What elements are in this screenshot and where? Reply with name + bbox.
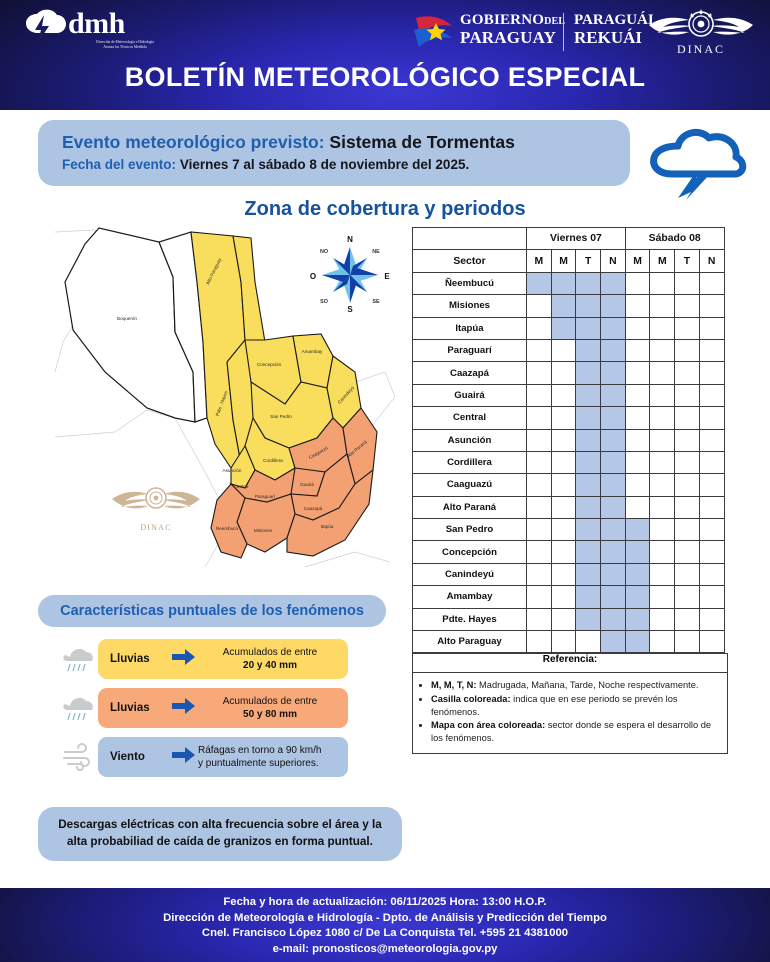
phenomenon-name: Viento [98,751,172,763]
forecast-cell-empty [625,272,650,294]
event-type-row: Evento meteorológico previsto: Sistema d… [62,129,630,155]
sector-name: Itapúa [413,317,527,339]
table-row: Paraguarí [413,339,725,361]
forecast-cell-active [576,429,601,451]
gobierno-line2: PARAGUAY [460,28,565,48]
forecast-cell-empty [551,429,576,451]
forecast-cell-empty [675,429,700,451]
forecast-cell-active [576,474,601,496]
logo-divider [563,13,564,51]
page-footer: Fecha y hora de actualización: 06/11/202… [0,888,770,962]
forecast-cell-empty [527,496,552,518]
forecast-cell-empty [625,295,650,317]
forecast-cell-empty [650,474,675,496]
period-header-6: T [675,250,700,272]
phenomenon-value-line1: Ráfagas en torno a 90 km/h [198,745,321,756]
footer-update: Fecha y hora de actualización: 06/11/202… [0,895,770,911]
forecast-cell-active [625,563,650,585]
forecast-cell-empty [650,496,675,518]
reference-item: Mapa con área coloreada: sector donde se… [431,719,719,744]
forecast-cell-empty [699,631,724,653]
forecast-cell-empty [699,295,724,317]
sector-name: Canindeyú [413,563,527,585]
page-header: dmh Dirección de Meteorología e Hidrolog… [0,0,770,110]
forecast-cell-active [576,362,601,384]
paraguay-flag-swoosh-icon [410,14,458,52]
table-row: Guairá [413,384,725,406]
forecast-cell-active [576,496,601,518]
dmh-logo: dmh Dirección de Meteorología e Hidrolog… [24,6,174,58]
forecast-cell-empty [699,317,724,339]
sector-name: Pdte. Hayes [413,608,527,630]
forecast-cell-active [625,631,650,653]
forecast-cell-active [601,407,626,429]
table-row: Ñeembucú [413,272,725,294]
coverage-map: Boquerón Alto Paraguay Pdte . Hayes Conc… [0,227,412,587]
forecast-cell-empty [699,362,724,384]
gobierno-text: GOBIERNODEL PARAGUAY [460,12,565,48]
forecast-cell-empty [551,541,576,563]
forecast-cell-empty [699,339,724,361]
forecast-cell-empty [527,407,552,429]
forecast-cell-active [601,339,626,361]
forecast-cell-empty [675,362,700,384]
compass-se: SE [372,299,380,305]
phenomenon-pill: Lluvias Acumulados de entre 50 y 80 mm [98,688,348,728]
table-row: Concepción [413,541,725,563]
gobierno-word: GOBIERNO [460,12,544,28]
sector-name: Caazapá [413,362,527,384]
forecast-cell-empty [625,496,650,518]
forecast-cell-empty [625,474,650,496]
table-row: San Pedro [413,519,725,541]
forecast-cell-empty [675,317,700,339]
table-row: Central [413,407,725,429]
table-row: Caaguazú [413,474,725,496]
main-content: Boquerón Alto Paraguay Pdte . Hayes Conc… [0,227,770,817]
gobierno-line1: GOBIERNODEL [460,12,565,29]
characteristics-section: Características puntuales de los fenómen… [0,595,412,786]
compass-s: S [347,305,353,314]
forecast-cell-empty [527,429,552,451]
compass-rose-icon: N S E O NO NE SO SE [305,229,395,317]
svg-text:Central: Central [234,484,249,489]
forecast-cell-empty [675,407,700,429]
forecast-cell-active [601,451,626,473]
compass-o: O [310,272,316,281]
forecast-cell-empty [675,586,700,608]
footer-email[interactable]: e-mail: pronosticos@meteorologia.gov.py [0,942,770,958]
phenomenon-value: Acumulados de entre 50 y 80 mm [198,695,348,721]
gobierno-paraguay-logo: GOBIERNODEL PARAGUAY PARAGUÁI REKUÁI [410,12,635,56]
forecast-cell-empty [650,384,675,406]
forecast-cell-empty [650,451,675,473]
forecast-cell-active [601,496,626,518]
footer-department: Dirección de Meteorología e Hidrología -… [0,911,770,927]
forecast-cell-active [601,295,626,317]
forecast-cell-active [601,362,626,384]
phenomenon-value: Acumulados de entre 20 y 40 mm [198,646,348,672]
forecast-cell-empty [527,339,552,361]
table-row: Amambay [413,586,725,608]
forecast-cell-empty [699,541,724,563]
period-header-7: N [699,250,724,272]
forecast-cell-empty [551,608,576,630]
sector-name: Amambay [413,586,527,608]
svg-text:Cordillera: Cordillera [263,458,283,463]
svg-text:Amambay: Amambay [302,349,323,354]
forecast-cell-empty [551,339,576,361]
forecast-cell-empty [527,474,552,496]
forecast-cell-active [576,407,601,429]
forecast-cell-empty [527,541,552,563]
event-type-value: Sistema de Tormentas [329,132,514,152]
svg-text:Boquerón: Boquerón [117,316,137,321]
forecast-cell-empty [650,407,675,429]
forecast-cell-empty [699,451,724,473]
phenomenon-pill: Lluvias Acumulados de entre 20 y 40 mm [98,639,348,679]
forecast-cell-empty [625,317,650,339]
svg-text:Misiones: Misiones [254,528,273,533]
sector-name: Alto Paraná [413,496,527,518]
reference-body: M, M, T, N: Madrugada, Mañana, Tarde, No… [412,673,728,754]
forecast-cell-empty [551,563,576,585]
forecast-cell-active [576,586,601,608]
forecast-cell-empty [625,362,650,384]
svg-text:Concepción: Concepción [257,362,282,367]
table-row: Itapúa [413,317,725,339]
forecast-table-wrapper: Viernes 07 Sábado 08 Sector M M T N M M … [412,227,728,754]
dinac-logo: DINAC [645,6,757,58]
phenomenon-row: Viento Ráfagas en torno a 90 km/h y punt… [0,737,412,777]
arrow-right-icon [172,649,198,670]
forecast-cell-empty [551,474,576,496]
sector-name: Guairá [413,384,527,406]
forecast-cell-empty [625,429,650,451]
compass-e: E [384,272,390,281]
compass-n: N [347,235,353,244]
forecast-cell-empty [650,631,675,653]
forecast-cell-empty [699,384,724,406]
forecast-cell-active [601,384,626,406]
dinac-wings-emblem-icon [645,6,757,46]
forecast-cell-empty [551,451,576,473]
phenomenon-value-line2: 50 y 80 mm [198,708,342,721]
day-header-saturday: Sábado 08 [625,228,724,250]
period-header-1: M [551,250,576,272]
header-spacer [413,228,527,250]
phenomena-list: Lluvias Acumulados de entre 20 y 40 mm [0,639,412,777]
forecast-cell-empty [527,519,552,541]
forecast-cell-active [601,608,626,630]
sector-name: Alto Paraguay [413,631,527,653]
forecast-cell-empty [675,295,700,317]
forecast-cell-active [576,317,601,339]
table-row: Canindeyú [413,563,725,585]
forecast-cell-active [527,272,552,294]
page-title: BOLETÍN METEOROLÓGICO ESPECIAL [0,62,770,93]
forecast-cell-empty [699,519,724,541]
forecast-cell-empty [625,339,650,361]
table-period-header-row: Sector M M T N M M T N [413,250,725,272]
forecast-cell-active [576,339,601,361]
phenomenon-value: Ráfagas en torno a 90 km/h y puntualment… [198,744,348,770]
svg-text:Asunción: Asunción [223,468,242,473]
forecast-cell-empty [699,272,724,294]
forecast-cell-empty [675,474,700,496]
forecast-cell-active [576,272,601,294]
forecast-cell-empty [675,496,700,518]
table-row: Cordillera [413,451,725,473]
forecast-cell-active [625,586,650,608]
forecast-cell-empty [527,451,552,473]
forecast-cell-empty [527,384,552,406]
forecast-cell-empty [675,608,700,630]
table-head: Viernes 07 Sábado 08 Sector M M T N M M … [413,228,725,273]
period-header-5: M [650,250,675,272]
forecast-cell-empty [527,608,552,630]
svg-text:Ñeembucú: Ñeembucú [216,525,239,531]
sector-name: San Pedro [413,519,527,541]
svg-text:San Pedro: San Pedro [270,414,292,419]
rain-cloud-icon [60,643,96,675]
guarani-line1: PARAGUÁI [574,12,654,29]
header-logo-bar: dmh Dirección de Meteorología e Hidrolog… [0,0,770,62]
sector-name: Cordillera [413,451,527,473]
sector-name: Misiones [413,295,527,317]
forecast-cell-empty [675,519,700,541]
compass-no: NO [320,249,328,255]
period-header-0: M [527,250,552,272]
forecast-cell-active [576,295,601,317]
forecast-cell-empty [699,429,724,451]
forecast-cell-active [601,563,626,585]
forecast-cell-empty [527,631,552,653]
guarani-text: PARAGUÁI REKUÁI [574,12,654,48]
forecast-cell-active [601,429,626,451]
forecast-cell-active [601,586,626,608]
forecast-cell-empty [650,586,675,608]
svg-text:Itapúa: Itapúa [321,524,334,529]
forecast-cell-empty [699,474,724,496]
rain-cloud-icon [60,692,96,724]
forecast-cell-empty [650,541,675,563]
phenomenon-value-line1: Acumulados de entre [198,646,342,659]
dinac-watermark-label: DINAC [110,523,202,532]
forecast-cell-empty [527,362,552,384]
arrow-right-icon [172,698,198,719]
dmh-subtitle-line2: Avanza los Técnicos Meddida [103,45,146,49]
forecast-cell-empty [527,295,552,317]
forecast-cell-active [576,519,601,541]
reference-list: M, M, T, N: Madrugada, Mañana, Tarde, No… [417,679,719,744]
forecast-cell-empty [527,563,552,585]
event-date-value: Viernes 7 al sábado 8 de noviembre del 2… [180,157,469,172]
forecast-cell-active [601,519,626,541]
guarani-line2: REKUÁI [574,28,654,48]
forecast-cell-empty [551,362,576,384]
dmh-subtitle: Dirección de Meteorología e Hidrología A… [70,40,180,50]
section-title: Zona de cobertura y periodos [0,198,770,221]
wind-icon [60,741,96,773]
forecast-cell-empty [699,608,724,630]
forecast-cell-empty [625,451,650,473]
forecast-cell-empty [650,339,675,361]
phenomenon-value-line1: Acumulados de entre [198,695,342,708]
forecast-cell-empty [699,496,724,518]
table-row: Asunción [413,429,725,451]
forecast-cell-empty [551,407,576,429]
forecast-cell-empty [675,563,700,585]
forecast-cell-empty [650,362,675,384]
period-header-2: T [576,250,601,272]
forecast-cell-active [576,563,601,585]
dinac-label: DINAC [645,42,757,57]
phenomenon-value-line2: 20 y 40 mm [198,659,342,672]
forecast-cell-empty [551,586,576,608]
forecast-cell-empty [675,451,700,473]
sector-name: Asunción [413,429,527,451]
forecast-cell-empty [625,384,650,406]
table-row: Pdte. Hayes [413,608,725,630]
table-body: ÑeembucúMisionesItapúaParaguaríCaazapáGu… [413,272,725,653]
footer-address: Cnel. Francisco López 1080 c/ De La Conq… [0,926,770,942]
forecast-cell-active [551,317,576,339]
table-row: Misiones [413,295,725,317]
event-date-label: Fecha del evento: [62,157,176,172]
forecast-cell-empty [527,586,552,608]
period-header-4: M [625,250,650,272]
forecast-cell-empty [675,272,700,294]
compass-so: SO [320,299,328,305]
reference-item: Casilla coloreada: indica que en ese per… [431,693,719,718]
forecast-cell-empty [650,295,675,317]
forecast-cell-empty [675,541,700,563]
forecast-cell-active [576,384,601,406]
phenomenon-value-line2: y puntualmente superiores. [198,758,319,769]
forecast-cell-empty [551,496,576,518]
forecast-cell-active [601,317,626,339]
forecast-cell-active [625,519,650,541]
forecast-cell-active [625,608,650,630]
forecast-cell-empty [675,384,700,406]
dmh-abbr: dmh [68,8,125,40]
forecast-table: Viernes 07 Sábado 08 Sector M M T N M M … [412,227,725,653]
event-type-label: Evento meteorológico previsto: [62,132,325,152]
forecast-cell-active [551,272,576,294]
sector-name: Central [413,407,527,429]
thunderstorm-cloud-icon [648,122,756,200]
compass-ne: NE [372,249,380,255]
forecast-cell-empty [625,407,650,429]
reference-title: Referencia: [412,653,728,673]
day-header-friday: Viernes 07 [527,228,626,250]
reference-item: M, M, T, N: Madrugada, Mañana, Tarde, No… [431,679,719,692]
forecast-cell-active [601,541,626,563]
forecast-cell-active [551,295,576,317]
sector-name: Paraguarí [413,339,527,361]
event-date-row: Fecha del evento: Viernes 7 al sábado 8 … [62,155,630,175]
forecast-cell-empty [650,272,675,294]
forecast-cell-empty [675,631,700,653]
phenomenon-name: Lluvias [98,653,172,665]
dmh-cloud-lightning-icon [24,8,70,48]
forecast-cell-empty [576,631,601,653]
forecast-cell-active [576,451,601,473]
period-header-3: N [601,250,626,272]
forecast-cell-active [601,272,626,294]
sector-name: Concepción [413,541,527,563]
event-section: Evento meteorológico previsto: Sistema d… [0,110,770,200]
forecast-cell-active [601,631,626,653]
forecast-cell-active [601,474,626,496]
forecast-cell-empty [699,586,724,608]
table-row: Alto Paraná [413,496,725,518]
sector-name: Ñeembucú [413,272,527,294]
event-info-box: Evento meteorológico previsto: Sistema d… [38,120,630,186]
forecast-cell-empty [675,339,700,361]
forecast-cell-empty [650,608,675,630]
svg-text:Guairá: Guairá [300,482,314,487]
svg-text:Caazapá: Caazapá [304,506,323,511]
forecast-cell-empty [699,407,724,429]
forecast-cell-empty [527,317,552,339]
table-row: Alto Paraguay [413,631,725,653]
characteristics-title: Características puntuales de los fenómen… [38,595,386,627]
sector-name: Caaguazú [413,474,527,496]
forecast-cell-active [576,541,601,563]
arrow-right-icon [172,747,198,768]
forecast-cell-empty [650,317,675,339]
phenomenon-name: Lluvias [98,702,172,714]
phenomenon-row: Lluvias Acumulados de entre 50 y 80 mm [0,688,412,728]
forecast-cell-active [625,541,650,563]
phenomenon-pill: Viento Ráfagas en torno a 90 km/h y punt… [98,737,348,777]
sector-column-header: Sector [413,250,527,272]
dmh-subtitle-line1: Dirección de Meteorología e Hidrología [96,40,154,44]
dinac-watermark-icon [110,477,202,523]
warning-box: Descargas eléctricas con alta frecuencia… [38,807,402,861]
forecast-cell-empty [699,563,724,585]
forecast-cell-empty [650,429,675,451]
svg-text:Paraguarí: Paraguarí [255,494,276,499]
forecast-cell-active [576,608,601,630]
table-day-header-row: Viernes 07 Sábado 08 [413,228,725,250]
phenomenon-row: Lluvias Acumulados de entre 20 y 40 mm [0,639,412,679]
forecast-cell-empty [551,519,576,541]
table-row: Caazapá [413,362,725,384]
forecast-cell-empty [551,631,576,653]
forecast-cell-empty [551,384,576,406]
forecast-cell-empty [650,519,675,541]
forecast-cell-empty [650,563,675,585]
